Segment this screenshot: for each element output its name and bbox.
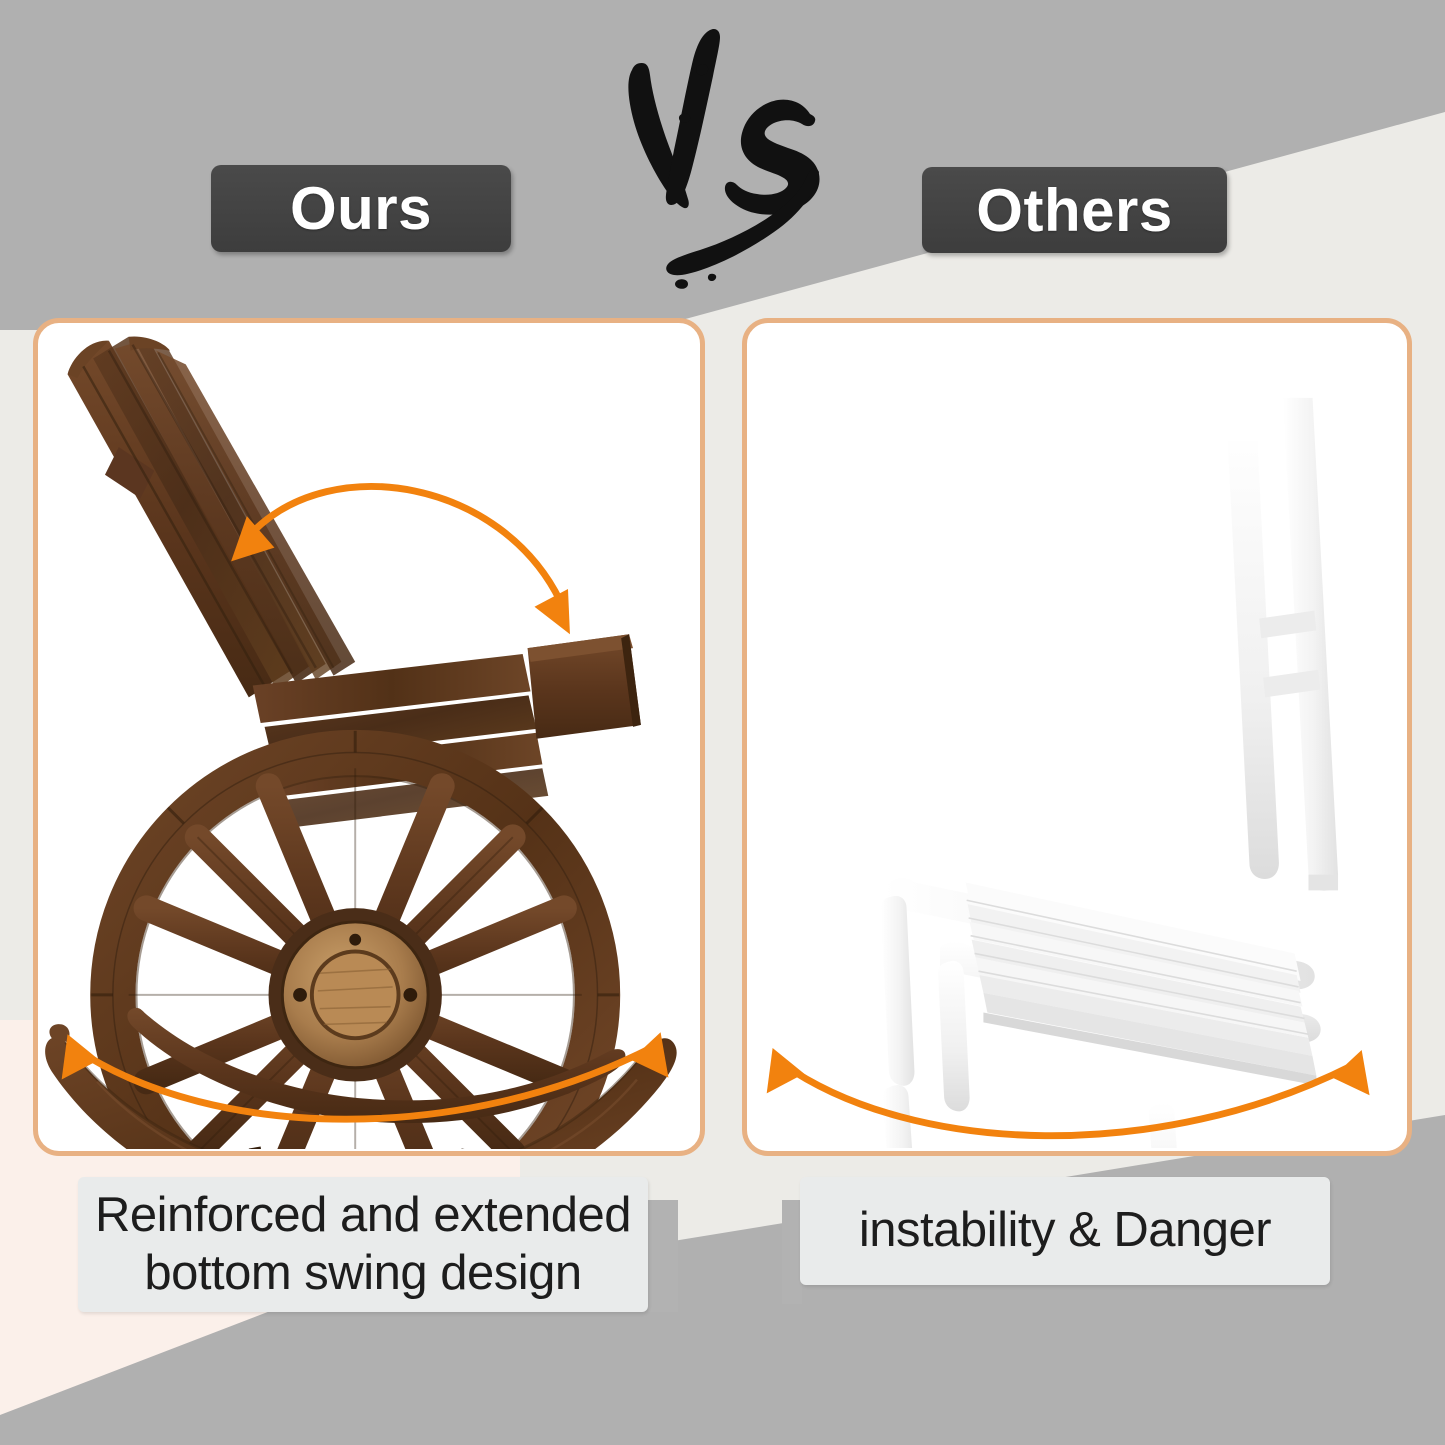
chair-arm-supports <box>881 896 970 1112</box>
others-card[interactable] <box>742 318 1412 1156</box>
wooden-wagon-wheel-rocking-chair-illustration <box>38 323 700 1149</box>
others-caption: instability & Danger <box>800 1177 1330 1285</box>
ours-badge[interactable]: Ours <box>211 165 511 252</box>
ours-card[interactable] <box>33 318 705 1156</box>
ours-caption: Reinforced and extended bottom swing des… <box>78 1177 648 1312</box>
chair-backrest <box>68 336 356 697</box>
others-badge[interactable]: Others <box>922 167 1227 253</box>
white-rocking-chair-illustration <box>747 323 1407 1148</box>
caption-shadow-left <box>648 1200 678 1312</box>
caption-shadow-right <box>782 1200 802 1304</box>
chair-seat <box>966 883 1317 1086</box>
chair-back-posts <box>1228 379 1338 891</box>
vs-brush-stroke-icon <box>614 22 844 292</box>
